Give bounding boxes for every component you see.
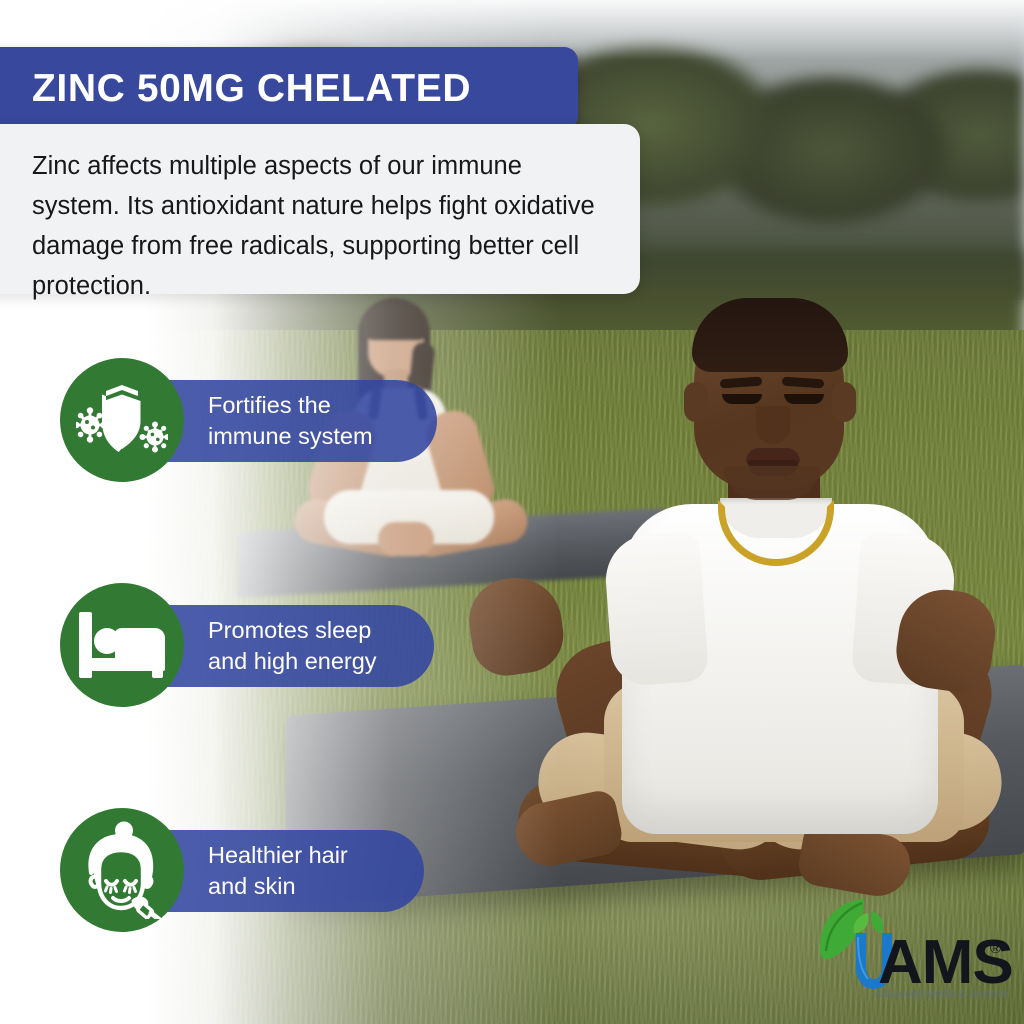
shield-virus-icon [76,381,168,459]
logo-wordmark: AMS [878,928,1012,997]
svg-text:AMS: AMS [878,928,1012,997]
feature-label-sleep: Promotes sleep and high energy [208,615,377,677]
description-text: Zinc affects multiple aspects of our imm… [32,146,600,306]
feature-icon-circle-hair-skin [60,808,184,932]
title-banner: ZINC 50MG CHELATED [0,47,578,130]
feature-item-immune: Fortifies the immune system [60,358,184,482]
description-card: Zinc affects multiple aspects of our imm… [0,124,640,294]
feature-item-sleep: Promotes sleep and high energy [60,583,184,707]
infographic-canvas: ZINC 50MG CHELATED Zinc affects multiple… [0,0,1024,1024]
feature-icon-circle-sleep [60,583,184,707]
page-title: ZINC 50MG CHELATED [32,67,471,111]
ams-logo: AMS ® Advanced Media & Science [812,893,1012,1001]
logo-tagline: Advanced Media & Science [874,988,1009,1000]
feature-item-hair-skin: Healthier hair and skin [60,808,184,932]
feature-label-hair-skin: Healthier hair and skin [208,840,348,902]
feature-icon-circle-immune [60,358,184,482]
face-skincare-icon [75,821,169,919]
registered-mark: ® [990,940,1001,957]
feature-label-immune: Fortifies the immune system [208,390,373,452]
bed-sleep-icon [79,612,165,678]
